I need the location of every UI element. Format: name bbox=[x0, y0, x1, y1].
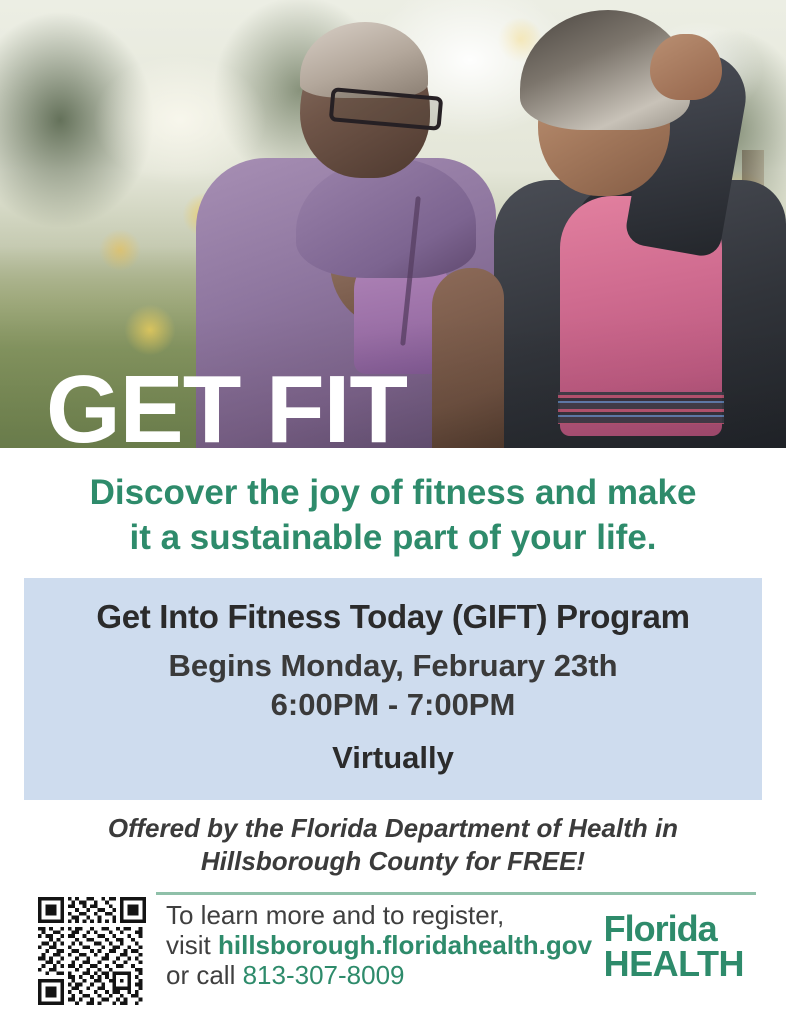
offered-by-line-2: Hillsborough County for FREE! bbox=[50, 845, 736, 878]
website-link[interactable]: hillsborough.floridahealth.gov bbox=[218, 930, 592, 960]
logo-line-florida: Florida bbox=[604, 912, 744, 946]
woman-right-waistband bbox=[558, 392, 724, 424]
page-title: GET FIT bbox=[46, 362, 407, 458]
program-mode: Virtually bbox=[24, 738, 762, 778]
tagline: Discover the joy of fitness and make it … bbox=[0, 470, 786, 560]
offered-by-text: Offered by the Florida Department of Hea… bbox=[0, 812, 786, 878]
woman-left-arm bbox=[432, 268, 504, 448]
qr-code[interactable] bbox=[38, 897, 146, 1005]
tagline-line-2: it a sustainable part of your life. bbox=[30, 515, 756, 560]
logo-line-health: HEALTH bbox=[604, 946, 744, 982]
footer-divider bbox=[156, 892, 756, 895]
program-start-date: Begins Monday, February 23th bbox=[24, 646, 762, 686]
woman-right-hand bbox=[650, 34, 722, 100]
contact-info: To learn more and to register, visit hil… bbox=[166, 900, 592, 990]
tagline-line-1: Discover the joy of fitness and make bbox=[30, 470, 756, 515]
contact-line-3: or call 813-307-8009 bbox=[166, 960, 592, 990]
contact-line-1: To learn more and to register, bbox=[166, 900, 592, 930]
phone-link[interactable]: 813-307-8009 bbox=[243, 960, 405, 990]
offered-by-line-1: Offered by the Florida Department of Hea… bbox=[50, 812, 736, 845]
program-title: Get Into Fitness Today (GIFT) Program bbox=[24, 596, 762, 638]
call-prefix: or call bbox=[166, 960, 243, 990]
visit-prefix: visit bbox=[166, 930, 218, 960]
program-info-box: Get Into Fitness Today (GIFT) Program Be… bbox=[24, 578, 762, 800]
program-time: 6:00PM - 7:00PM bbox=[24, 686, 762, 724]
contact-line-2: visit hillsborough.floridahealth.gov bbox=[166, 930, 592, 960]
florida-health-logo: Florida HEALTH bbox=[604, 912, 744, 982]
